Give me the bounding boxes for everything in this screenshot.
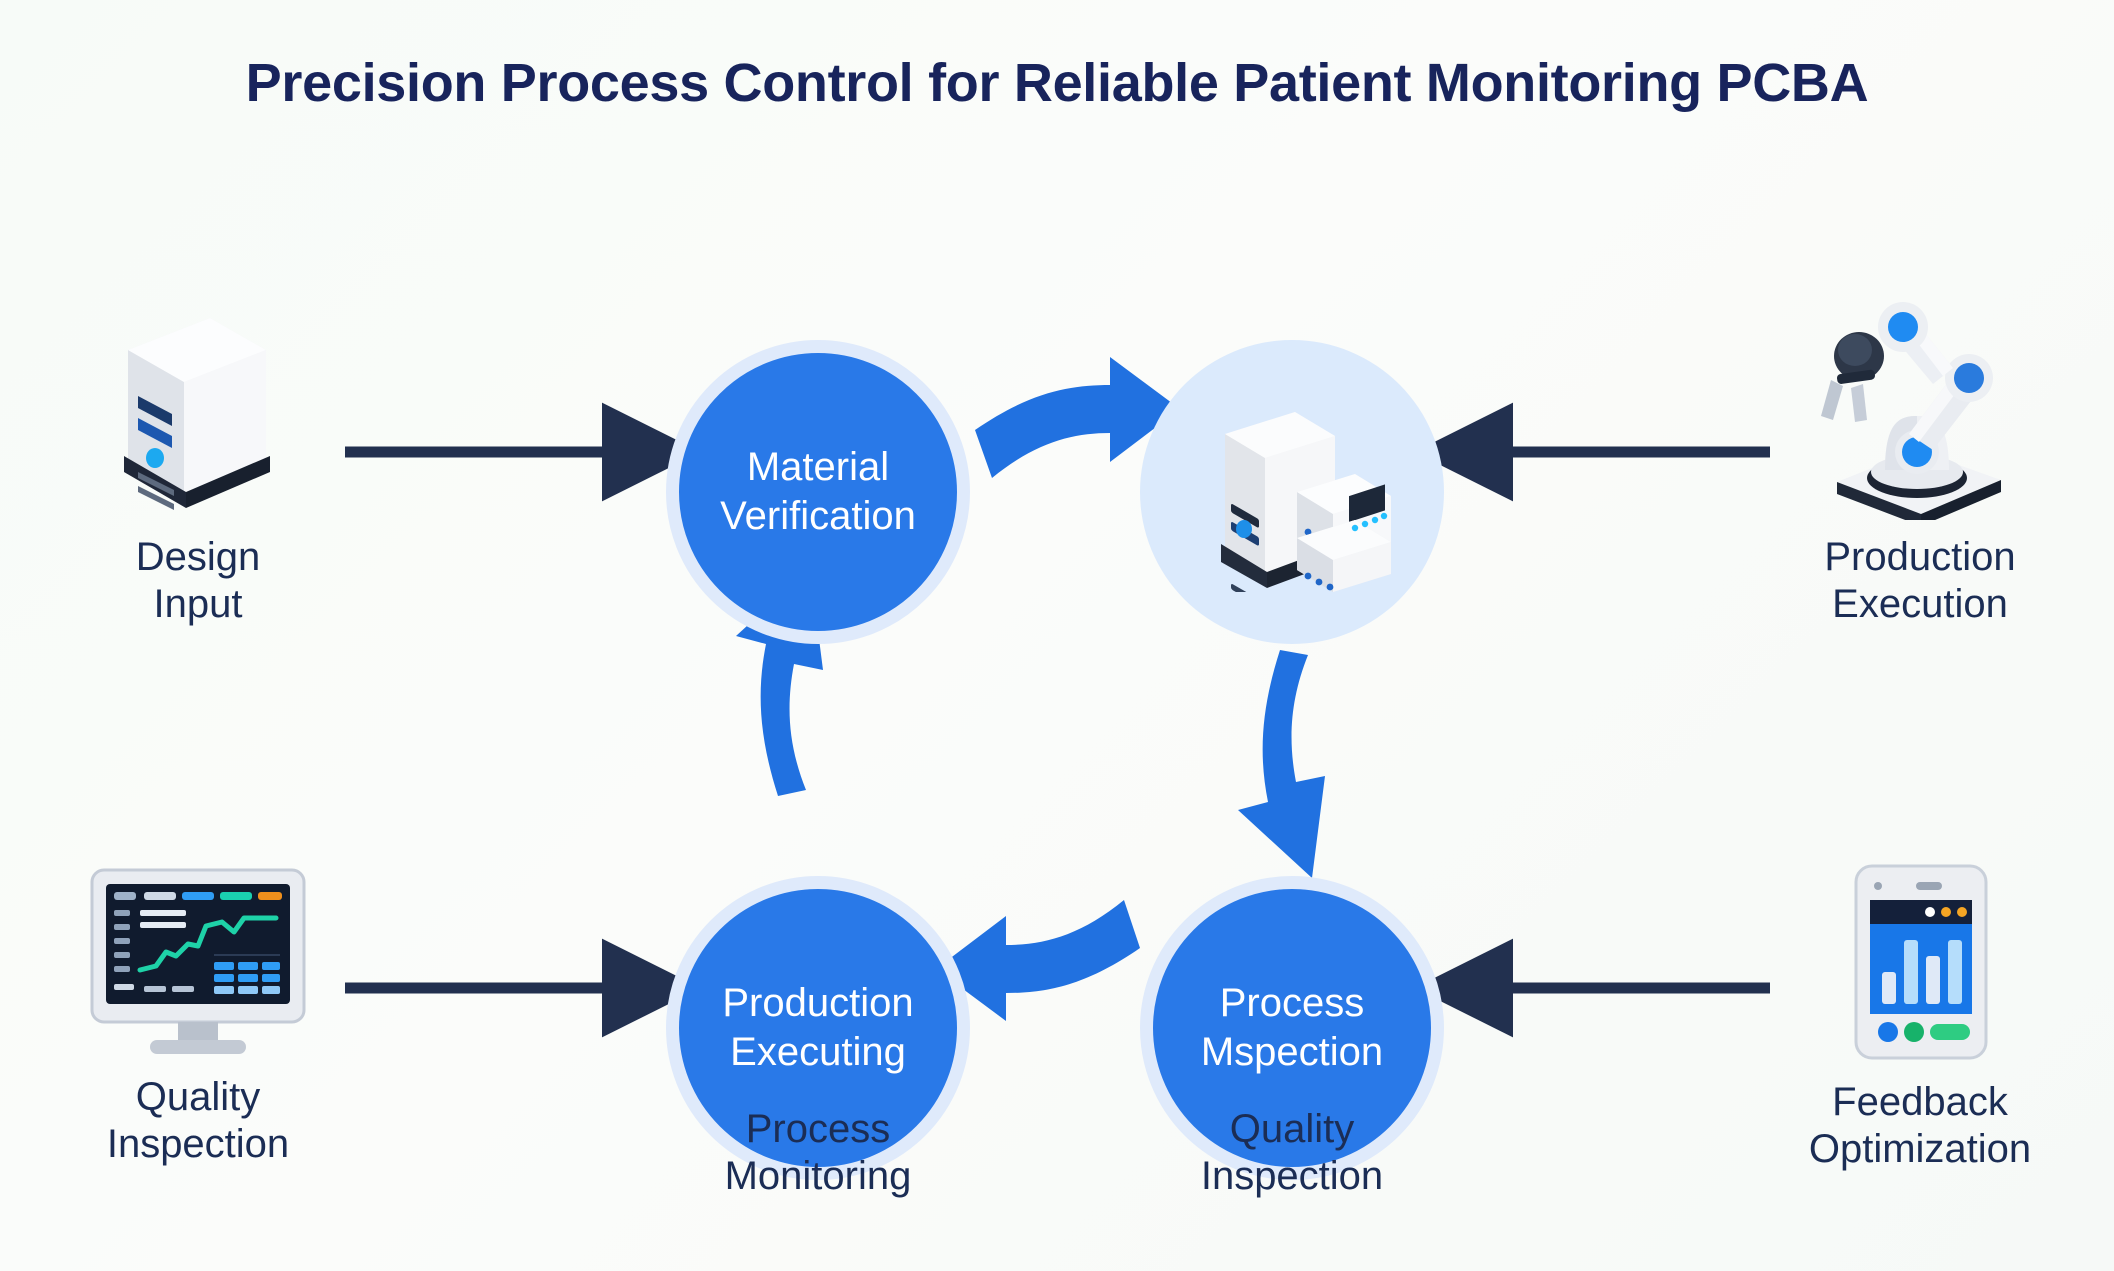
node-label-line-2: Executing xyxy=(730,1028,906,1077)
label-line-2: Optimization xyxy=(1809,1126,2031,1173)
external-item-design-input[interactable]: Design Input xyxy=(38,300,358,628)
external-item-production-execution[interactable]: Production Execution xyxy=(1760,300,2080,628)
center-label-text: Process Monitoring xyxy=(725,1106,912,1200)
label-line-1: Process xyxy=(725,1106,912,1153)
node-label-line-2: Verification xyxy=(720,492,916,541)
label-line-2: Inspection xyxy=(1201,1153,1383,1200)
label-line-1: Design xyxy=(136,534,261,581)
external-label-design-input: Design Input xyxy=(136,534,261,628)
label-line-2: Execution xyxy=(1824,581,2015,628)
label-line-2: Input xyxy=(136,581,261,628)
robot-arm-icon xyxy=(1805,300,2035,520)
node-label-line-1: Process xyxy=(1220,979,1365,1028)
cycle-node-server-stack[interactable] xyxy=(1140,340,1444,644)
external-item-quality-inspection-left[interactable]: Quality Inspection xyxy=(38,860,358,1168)
external-item-feedback-optimization[interactable]: Feedback Optimization xyxy=(1760,860,2080,1173)
external-label-feedback-optimization: Feedback Optimization xyxy=(1809,1079,2031,1173)
label-line-2: Monitoring xyxy=(725,1153,912,1200)
center-label-process-monitoring: Process Monitoring xyxy=(658,1106,978,1200)
node-label-line-1: Production xyxy=(722,979,913,1028)
center-label-text: Quality Inspection xyxy=(1201,1106,1383,1200)
center-label-quality-inspection-right: Quality Inspection xyxy=(1132,1106,1452,1200)
server-stack-icon xyxy=(1177,392,1407,592)
external-label-quality-inspection-left: Quality Inspection xyxy=(107,1074,289,1168)
label-line-1: Feedback xyxy=(1809,1079,2031,1126)
tablet-chart-icon xyxy=(1830,860,2010,1065)
arrow-server-to-inspection xyxy=(1238,650,1325,878)
page-title: Precision Process Control for Reliable P… xyxy=(0,52,2114,114)
label-line-2: Inspection xyxy=(107,1121,289,1168)
cycle-node-material-verification[interactable]: Material Verification xyxy=(666,340,970,644)
diagram-canvas: Precision Process Control for Reliable P… xyxy=(0,0,2114,1271)
node-label-line-1: Material xyxy=(747,443,889,492)
node-label-line-2: Mspection xyxy=(1201,1028,1383,1077)
label-line-1: Quality xyxy=(1201,1106,1383,1153)
server-tower-icon xyxy=(98,300,298,520)
label-line-1: Quality xyxy=(107,1074,289,1121)
monitor-dashboard-icon xyxy=(78,860,318,1060)
external-label-production-execution: Production Execution xyxy=(1824,534,2015,628)
label-line-1: Production xyxy=(1824,534,2015,581)
